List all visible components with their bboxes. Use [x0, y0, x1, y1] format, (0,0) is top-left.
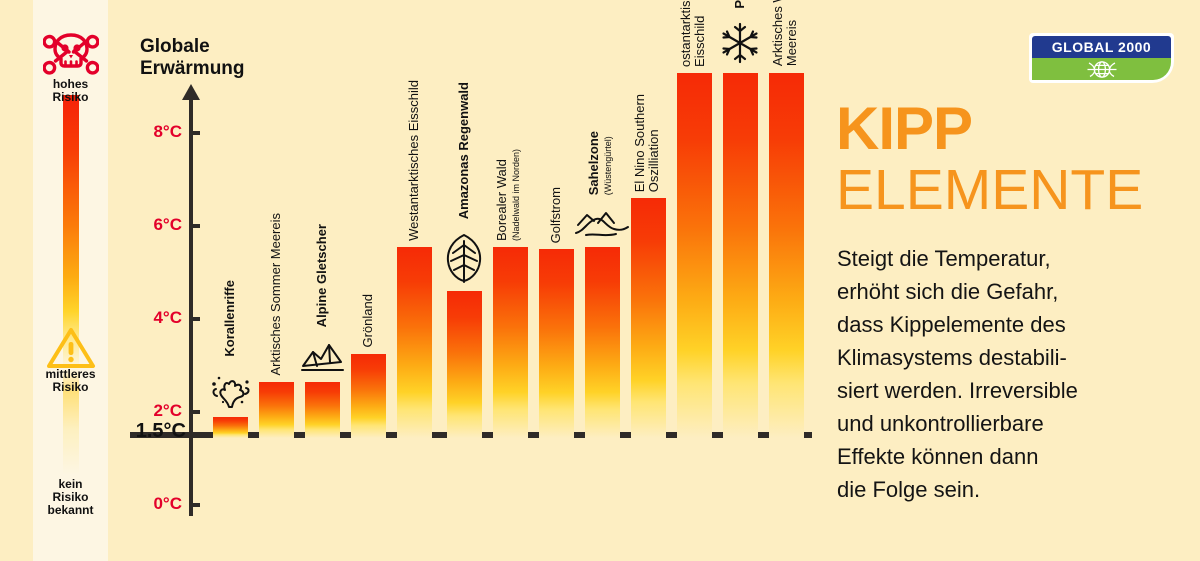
body-paragraph: Steigt die Temperatur, erhöht sich die G… — [837, 242, 1197, 506]
headline-elemente: ELEMENTE — [836, 160, 1143, 220]
bar-label: Arktisches Sommer Meereis — [269, 213, 283, 376]
bar-label: Alpine Gletscher — [315, 224, 329, 327]
bar-label: El Nino SouthernOszilliation — [633, 94, 661, 192]
leaf-icon — [444, 231, 484, 288]
snowflake-icon — [718, 21, 762, 70]
coral-icon — [207, 369, 253, 414]
dunes-icon — [574, 207, 630, 244]
bar-label: Permafrost — [733, 0, 747, 9]
infographic-canvas: hohes Risiko mittleres Risiko kein Risik… — [0, 0, 1200, 561]
bar-label: Korallenriffe — [223, 280, 237, 357]
bar-borealer-wald — [493, 247, 528, 438]
bar-label: Arktisches WinterMeereis — [771, 0, 799, 67]
bar-arktisches-sommer-meereis — [259, 382, 294, 438]
bar-series: KorallenriffeArktisches Sommer Meereis A… — [0, 0, 820, 561]
headline-kipp: KIPP — [836, 100, 972, 158]
bar-arktisches-winter-meereis — [769, 73, 804, 438]
bar-label: Amazonas Regenwald — [457, 82, 471, 219]
bar-label: Grönland — [361, 294, 375, 347]
bar-amazonas-regenwald — [447, 291, 482, 438]
bar-korallenriffe — [213, 417, 248, 438]
bar-label: Golfstrom — [549, 187, 563, 243]
bar-label: ostantarktischesEisschild — [679, 0, 707, 67]
bar-label: Sahelzone(Wüstengürtel) — [587, 131, 615, 195]
bar-golfstrom — [539, 249, 574, 438]
bar-el-nino-southern-oszilliation — [631, 198, 666, 438]
logo-wordmark: GLOBAL 2000 — [1032, 36, 1171, 58]
bar-alpine-gletscher — [305, 382, 340, 438]
bar-permafrost — [723, 73, 758, 438]
bar-label: Borealer Wald(Nadelwald im Norden) — [495, 149, 523, 241]
glacier-icon — [299, 340, 345, 379]
right-panel: GLOBAL 2000 KIPP ELEMENTE Steigt die Tem… — [828, 0, 1200, 561]
bar-chart: Globale Erwärmung 0°C2°C4°C6°C8°C 1.5°C … — [0, 0, 820, 561]
bar-ostantarktisches-eisschild — [677, 73, 712, 438]
globe-net-icon — [1032, 58, 1171, 80]
bar-label: Westantarktisches Eisschild — [407, 80, 421, 241]
bar-sahelzone — [585, 247, 620, 438]
bar-grönland — [351, 354, 386, 438]
global-2000-logo: GLOBAL 2000 — [1029, 33, 1174, 83]
bar-westantarktisches-eisschild — [397, 247, 432, 438]
